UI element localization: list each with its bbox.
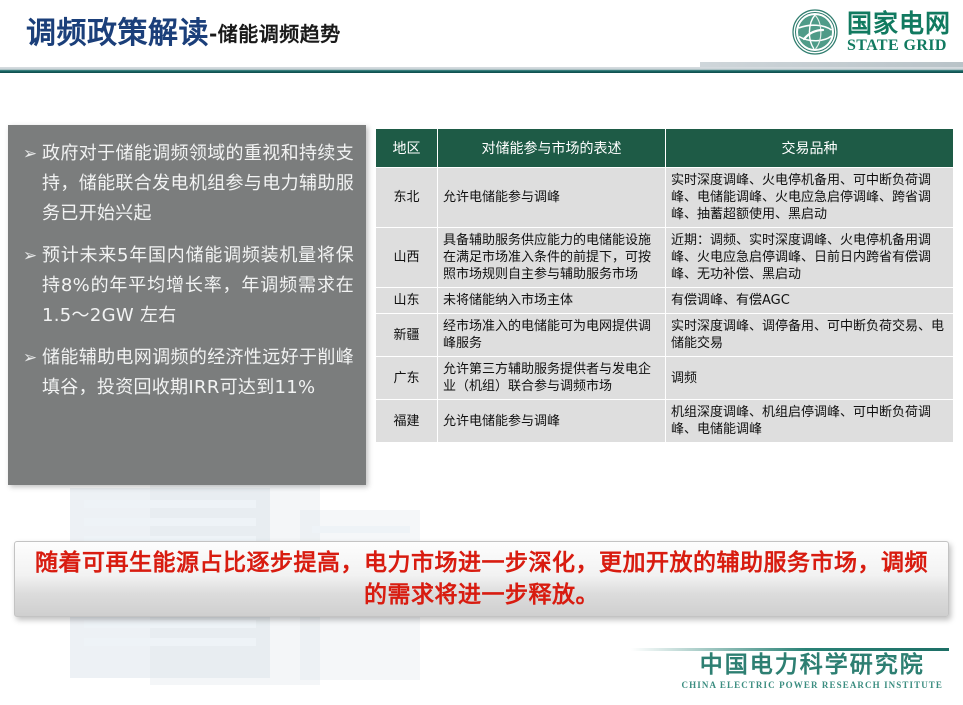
- state-grid-logo-text: 国家电网 STATE GRID: [847, 11, 951, 54]
- key-points-panel: ➢ 政府对于储能调频领域的重视和持续支持，储能联合发电机组参与电力辅助服务已开始…: [8, 125, 366, 485]
- page-title-main: 调频政策解读: [26, 16, 209, 51]
- cell-description: 具备辅助服务供应能力的电储能设施在满足市场准入条件的前提下，可按照市场规则自主参…: [438, 228, 666, 288]
- header-divider: [0, 67, 963, 73]
- bullet-item: ➢ 政府对于储能调频领域的重视和持续支持，储能联合发电机组参与电力辅助服务已开始…: [18, 125, 354, 229]
- cell-description: 允许电储能参与调峰: [438, 400, 666, 443]
- cell-region: 福建: [376, 400, 438, 443]
- cell-region: 广东: [376, 357, 438, 400]
- cell-products: 机组深度调峰、机组启停调峰、可中断负荷调峰、电储能调峰: [666, 400, 954, 443]
- cell-region: 新疆: [376, 314, 438, 357]
- cell-description: 允许第三方辅助服务提供者与发电企业（机组）联合参与调频市场: [438, 357, 666, 400]
- column-header-region: 地区: [376, 129, 438, 168]
- cell-region: 山西: [376, 228, 438, 288]
- policy-table: 地区 对储能参与市场的表述 交易品种 东北 允许电储能参与调峰 实时深度调峰、火…: [375, 128, 954, 443]
- conclusion-text: 随着可再生能源占比逐步提高，电力市场进一步深化，更加开放的辅助服务市场，调频的需…: [29, 547, 934, 611]
- page-title: 调频政策解读-储能调频趋势: [26, 8, 341, 52]
- bullet-text: 预计未来5年国内储能调频装机量将保持8%的年平均增长率，年调频需求在1.5～2G…: [42, 241, 354, 331]
- conclusion-banner: 随着可再生能源占比逐步提高，电力市场进一步深化，更加开放的辅助服务市场，调频的需…: [14, 541, 949, 617]
- state-grid-logo: 国家电网 STATE GRID: [792, 6, 951, 58]
- cell-products: 调频: [666, 357, 954, 400]
- cell-region: 东北: [376, 168, 438, 228]
- table-row: 福建 允许电储能参与调峰 机组深度调峰、机组启停调峰、可中断负荷调峰、电储能调峰: [376, 400, 954, 443]
- bullet-item: ➢ 储能辅助电网调频的经济性远好于削峰填谷，投资回收期IRR可达到11%: [18, 331, 354, 403]
- table-row: 山东 未将储能纳入市场主体 有偿调峰、有偿AGC: [376, 288, 954, 314]
- bullet-item: ➢ 预计未来5年国内储能调频装机量将保持8%的年平均增长率，年调频需求在1.5～…: [18, 229, 354, 331]
- footer-logo: 中国电力科学研究院 CHINA ELECTRIC POWER RESEARCH …: [682, 654, 943, 690]
- bullet-text: 储能辅助电网调频的经济性远好于削峰填谷，投资回收期IRR可达到11%: [42, 343, 354, 403]
- cell-products: 有偿调峰、有偿AGC: [666, 288, 954, 314]
- state-grid-name-en: STATE GRID: [847, 38, 951, 54]
- table-row: 山西 具备辅助服务供应能力的电储能设施在满足市场准入条件的前提下，可按照市场规则…: [376, 228, 954, 288]
- slide-canvas: 调频政策解读-储能调频趋势 国家电网 STATE GRID: [0, 0, 963, 705]
- column-header-description: 对储能参与市场的表述: [438, 129, 666, 168]
- cell-products: 实时深度调峰、火电停机备用、可中断负荷调峰、电储能调峰、火电应急启停调峰、跨省调…: [666, 168, 954, 228]
- cell-region: 山东: [376, 288, 438, 314]
- arrow-bullet-icon: ➢: [18, 139, 42, 169]
- cell-products: 近期：调频、实时深度调峰、火电停机备用调峰、火电应急启停调峰、日前日内跨省有偿调…: [666, 228, 954, 288]
- slide-header: 调频政策解读-储能调频趋势 国家电网 STATE GRID: [0, 0, 963, 72]
- cell-description: 允许电储能参与调峰: [438, 168, 666, 228]
- column-header-products: 交易品种: [666, 129, 954, 168]
- state-grid-globe-icon: [792, 9, 838, 55]
- bullet-text: 政府对于储能调频领域的重视和持续支持，储能联合发电机组参与电力辅助服务已开始兴起: [42, 139, 354, 229]
- cell-products: 实时深度调峰、调停备用、可中断负荷交易、电储能交易: [666, 314, 954, 357]
- cell-description: 未将储能纳入市场主体: [438, 288, 666, 314]
- arrow-bullet-icon: ➢: [18, 241, 42, 271]
- arrow-bullet-icon: ➢: [18, 343, 42, 373]
- table-row: 东北 允许电储能参与调峰 实时深度调峰、火电停机备用、可中断负荷调峰、电储能调峰…: [376, 168, 954, 228]
- table-header-row: 地区 对储能参与市场的表述 交易品种: [376, 129, 954, 168]
- table-row: 广东 允许第三方辅助服务提供者与发电企业（机组）联合参与调频市场 调频: [376, 357, 954, 400]
- footer-name-cn: 中国电力科学研究院: [682, 654, 943, 677]
- footer-name-en: CHINA ELECTRIC POWER RESEARCH INSTITUTE: [682, 681, 943, 690]
- page-title-sub: -储能调频趋势: [209, 22, 341, 46]
- table-row: 新疆 经市场准入的电储能可为电网提供调峰服务 实时深度调峰、调停备用、可中断负荷…: [376, 314, 954, 357]
- cell-description: 经市场准入的电储能可为电网提供调峰服务: [438, 314, 666, 357]
- state-grid-name-cn: 国家电网: [847, 11, 951, 36]
- footer-divider: [631, 648, 949, 651]
